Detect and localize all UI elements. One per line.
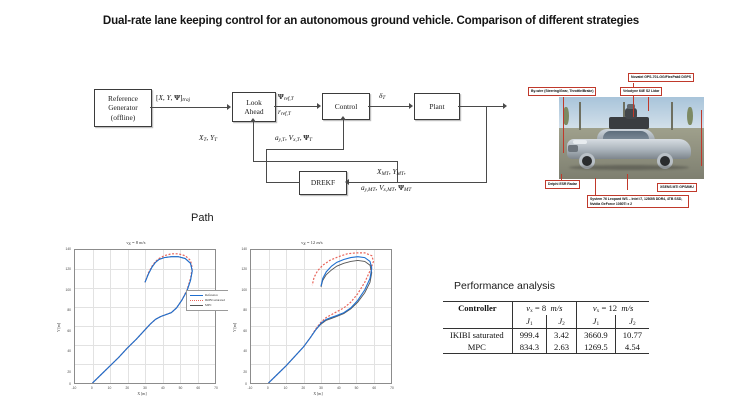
lidar-icon	[625, 108, 637, 119]
legend-item-mpc: MPC	[190, 303, 225, 308]
plot-8ms-xtick: -10	[72, 386, 77, 390]
plot-12ms-ytick: 120	[228, 267, 247, 271]
plot-8ms-ytick: 20	[52, 370, 71, 374]
legend-swatch-ikibi	[190, 300, 203, 301]
block-reference-generator: ReferenceGenerator(offline)	[94, 89, 152, 127]
plot-8ms-ytick: 60	[52, 329, 71, 333]
table-cell-mpc-j2-8: 2.63	[547, 341, 577, 354]
plot-8ms-xtick: 70	[214, 386, 218, 390]
arrow-feedback-to-control	[340, 116, 346, 120]
arrow-plant-output	[503, 103, 507, 109]
wire-refgen-to-lookahead	[150, 107, 228, 108]
plot-8ms-xtick: 10	[108, 386, 112, 390]
table-header-j2-12: J2	[615, 315, 649, 328]
table-header-j1-8: J1	[512, 315, 546, 328]
plot-12ms-ytick: 20	[228, 370, 247, 374]
leader-line-bywire	[563, 97, 564, 153]
plot-12ms-ytick: 0	[228, 382, 247, 386]
control-block-diagram: ReferenceGenerator(offline) LookAhead Co…	[84, 76, 514, 206]
plot-8ms-ytick: 40	[52, 349, 71, 353]
plot-12ms-title: vx = 12 m/s	[228, 240, 396, 247]
table-header-row-metrics: J1 J2 J1 J2	[443, 315, 649, 328]
signal-xt-yt-label: XT, YT	[199, 133, 217, 143]
plot-8ms-ytick: 140	[52, 247, 71, 251]
path-plot-12ms: vx = 12 m/s 140 120 100 80 60 40 20 0 -1…	[228, 240, 396, 400]
arrow-plant-to-drekf	[345, 179, 349, 185]
table-header-blank	[443, 315, 512, 328]
plot-8ms-xtick: 60	[196, 386, 200, 390]
plot-8ms-ytick: 100	[52, 288, 71, 292]
wire-drekf-left	[266, 149, 267, 182]
plot-12ms-ytick: 80	[228, 308, 247, 312]
vehicle-photo	[559, 97, 704, 179]
plot-8ms-ytick: 120	[52, 267, 71, 271]
legend-swatch-mpc	[190, 305, 203, 306]
car-shadow	[569, 165, 689, 170]
wire-plant-down	[486, 106, 487, 182]
plot-12ms-xtick: 40	[337, 386, 341, 390]
plot-12ms-xtick: 50	[355, 386, 359, 390]
table-cell-mpc-j1-8: 834.3	[512, 341, 546, 354]
plot-12ms-xtick: 70	[390, 386, 394, 390]
table-cell-controller-mpc: MPC	[443, 341, 512, 354]
plot-8ms-xtick: 0	[91, 386, 93, 390]
leader-line-velodyne	[648, 97, 649, 111]
plot-12ms-frame	[250, 249, 392, 384]
plot-12ms-ytick: 60	[228, 329, 247, 333]
series-reference-8ms	[93, 257, 193, 383]
plot-12ms-xtick: 30	[319, 386, 323, 390]
plot-12ms-xtick: 0	[267, 386, 269, 390]
leader-line-xsens	[627, 174, 628, 190]
table-cell-ikibi-j2-8: 3.42	[547, 328, 577, 341]
signal-delta-label: δT	[379, 91, 385, 101]
wire-plant-output	[458, 106, 504, 107]
plot-12ms-ytick: 140	[228, 247, 247, 251]
arrow-feedback-to-lookahead	[250, 118, 256, 122]
plot-12ms-ytick: 40	[228, 349, 247, 353]
car-headlamp	[573, 140, 587, 144]
legend-label-mpc: MPC	[205, 303, 212, 308]
table-row: IKIBI saturated 999.4 3.42 3660.9 10.77	[443, 328, 649, 341]
wire-feedback-h	[266, 149, 344, 150]
plot-8ms-canvas	[75, 250, 215, 383]
table-row: MPC 834.3 2.63 1269.5 4.54	[443, 341, 649, 354]
series-ikibi-8ms	[93, 254, 193, 383]
table-header-j1-12: J1	[577, 315, 616, 328]
annotation-xsens-imu: XSENS MTi GPS/IMU	[657, 183, 697, 192]
block-control: Control	[322, 93, 370, 120]
performance-analysis-table: Controller vx = 8 m/s vx = 12 m/s J1 J2 …	[443, 301, 649, 354]
plot-12ms-ylabel: Y [m]	[233, 323, 237, 332]
wire-feedback-to-control	[343, 118, 344, 149]
signal-psi-ref-label: Ψref,T	[278, 92, 294, 102]
series-reference-12ms	[269, 257, 372, 383]
series-mpc-8ms	[93, 257, 193, 383]
arrow-refgen-to-lookahead	[227, 104, 231, 110]
slide-root: Dual-rate lane keeping control for an au…	[0, 0, 742, 417]
leader-line-right-edge	[701, 110, 702, 166]
table-header-row-groups: Controller vx = 8 m/s vx = 12 m/s	[443, 302, 649, 315]
wire-drekf-left-bottom	[266, 182, 300, 183]
plot-12ms-canvas	[251, 250, 391, 383]
page-title: Dual-rate lane keeping control for an au…	[0, 14, 742, 27]
annotation-workstation: System 76 Leopard WS – Intel i7, 128GB D…	[587, 195, 689, 208]
table-cell-controller-ikibi: IKIBI saturated	[443, 328, 512, 341]
plot-8ms-frame	[74, 249, 216, 384]
plot-8ms-ylabel: Y [m]	[57, 323, 61, 332]
plot-8ms-xtick: 40	[161, 386, 165, 390]
wire-control-to-plant	[368, 106, 410, 107]
plot-8ms-xlabel: X [m]	[62, 392, 222, 396]
path-section-heading: Path	[191, 212, 214, 224]
signal-r-ref-label: rref,T	[278, 107, 291, 117]
annotation-novatel-gps: Novatel GPS-701-GG/FlexPak6 DGPS	[628, 73, 694, 82]
plot-8ms-xtick: 50	[179, 386, 183, 390]
wire-lookahead-feedback-v	[253, 120, 254, 161]
annotation-by-wire: By-wire (Steering/Gear, Throttle/Brake)	[528, 87, 596, 96]
path-plot-8ms: vx = 8 m/s 140 120 100 80 60 40 20 0 -10…	[52, 240, 220, 400]
plot-12ms-xtick: 20	[301, 386, 305, 390]
series-mpc-12ms	[269, 260, 372, 383]
table-header-controller: Controller	[443, 302, 512, 315]
annotation-velodyne-lidar: Velodyne 64E S2 Lidar	[620, 87, 662, 96]
legend-swatch-reference	[190, 295, 203, 296]
table-cell-ikibi-j1-12: 3660.9	[577, 328, 616, 341]
signal-mt-label-line1: XMT, YMT,	[377, 167, 406, 177]
table-cell-ikibi-j1-8: 999.4	[512, 328, 546, 341]
wire-lookahead-feedback-h	[253, 161, 398, 162]
photo-tree-2	[687, 107, 693, 125]
performance-analysis-heading: Performance analysis	[454, 280, 555, 292]
table-header-j2-8: J2	[547, 315, 577, 328]
arrow-lookahead-to-control	[317, 103, 321, 109]
table-cell-mpc-j2-12: 4.54	[615, 341, 649, 354]
block-plant: Plant	[414, 93, 460, 120]
annotation-delphi-radar: Delphi ESR Radar	[545, 180, 580, 189]
plot-8ms-title: vx = 8 m/s	[52, 240, 220, 247]
plot-8ms-xtick: 30	[143, 386, 147, 390]
car-grille	[568, 145, 578, 152]
plot-12ms-xtick: 60	[372, 386, 376, 390]
signal-mt-label-line2: ay,MT, Vx,MT, ΨMT	[361, 183, 411, 193]
vehicle-sensor-overview: Novatel GPS-701-GG/FlexPak6 DGPS By-wire…	[527, 70, 737, 210]
table-cell-ikibi-j2-12: 10.77	[615, 328, 649, 341]
table-cell-mpc-j1-12: 1269.5	[577, 341, 616, 354]
photo-pole-1	[579, 102, 581, 130]
plot-8ms-ytick: 80	[52, 308, 71, 312]
plot-8ms-ytick: 0	[52, 382, 71, 386]
photo-tree-1	[563, 107, 569, 125]
arrow-control-to-plant	[409, 103, 413, 109]
block-drekf: DREKF	[299, 171, 347, 195]
signal-control-feedback-label: ay,T, Vx,T, ΨT	[275, 133, 312, 143]
plot-12ms-xlabel: X [m]	[238, 392, 398, 396]
plot-8ms-xtick: 20	[125, 386, 129, 390]
plot-12ms-xtick: -10	[248, 386, 253, 390]
plot-12ms-xtick: 10	[284, 386, 288, 390]
path-plot-legend: Reference IKIBI saturated MPC	[186, 290, 229, 311]
series-ikibi-12ms	[269, 253, 374, 383]
test-vehicle	[567, 127, 691, 167]
plot-12ms-ytick: 100	[228, 288, 247, 292]
table-header-speed-8: vx = 8 m/s	[512, 302, 576, 315]
photo-pole-3	[671, 102, 673, 130]
table-header-speed-12: vx = 12 m/s	[577, 302, 649, 315]
signal-traj-label: [X, Y, Ψ]traj	[156, 93, 190, 103]
